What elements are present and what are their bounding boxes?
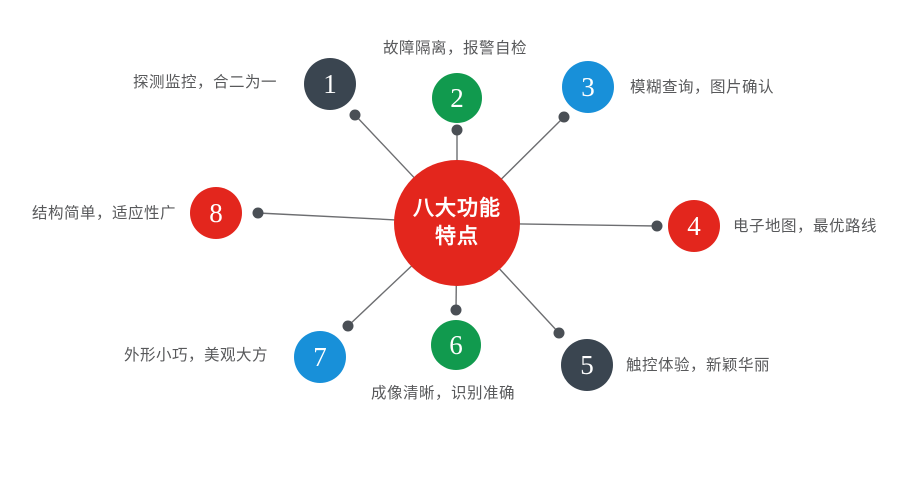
node-6[interactable]: 6 [431,320,481,370]
center-hub-line-2: 特点 [435,223,479,251]
node-8[interactable]: 8 [190,187,242,239]
node-7-number: 7 [313,344,327,371]
node-5[interactable]: 5 [561,339,613,391]
center-hub: 八大功能 特点 [394,160,520,286]
node-1[interactable]: 1 [304,58,356,110]
connector-line-1 [355,115,414,178]
connector-dot-2 [452,125,463,136]
connector-dot-4 [652,221,663,232]
feature-spokes-diagram: 八大功能 特点 1 探测监控，合二为一 2 故障隔离，报警自检 3 模糊查询，图… [0,0,923,477]
node-4-number: 4 [687,213,701,240]
node-7-caption: 外形小巧，美观大方 [124,347,268,366]
node-2-number: 2 [450,85,464,112]
connector-dot-8 [253,208,264,219]
connector-line-8 [258,213,395,220]
node-3-caption: 模糊查询，图片确认 [630,79,774,98]
connector-dot-6 [451,305,462,316]
node-4[interactable]: 4 [668,200,720,252]
node-8-caption: 结构简单，适应性广 [32,205,176,224]
connector-dot-3 [559,112,570,123]
node-1-number: 1 [323,71,337,98]
node-6-caption: 成像清晰，识别准确 [371,385,515,404]
node-6-number: 6 [449,332,463,359]
node-3-number: 3 [581,74,595,101]
connector-dot-1 [350,110,361,121]
node-2-caption: 故障隔离，报警自检 [383,40,527,59]
center-hub-line-1: 八大功能 [413,195,501,223]
node-5-caption: 触控体验，新颖华丽 [626,357,770,376]
node-4-caption: 电子地图，最优路线 [733,218,877,237]
node-5-number: 5 [580,352,594,379]
connector-line-4 [519,224,657,226]
connector-line-3 [501,117,564,179]
connector-line-5 [499,268,559,333]
node-1-caption: 探测监控，合二为一 [133,74,277,93]
node-2[interactable]: 2 [432,73,482,123]
node-8-number: 8 [209,200,223,227]
node-3[interactable]: 3 [562,61,614,113]
connector-dot-7 [343,321,354,332]
connector-dot-5 [554,328,565,339]
connector-line-7 [348,266,412,326]
node-7[interactable]: 7 [294,331,346,383]
